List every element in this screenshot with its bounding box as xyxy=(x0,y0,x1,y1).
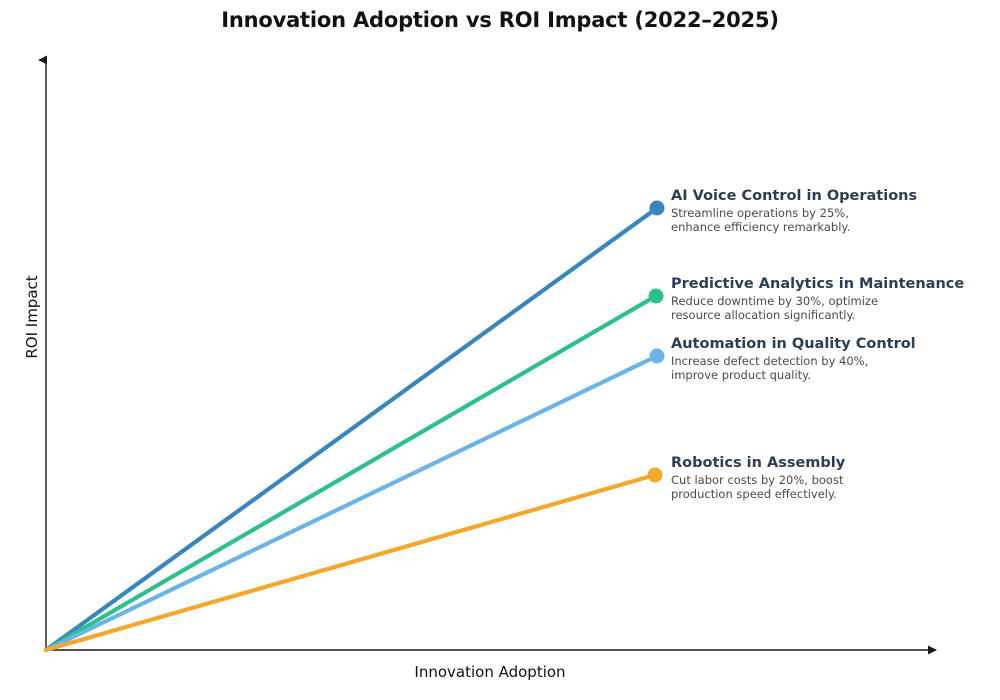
series-annotation-description: Streamline operations by 25%, enhance ef… xyxy=(671,206,1000,235)
series-annotation-0: AI Voice Control in Operations Streamlin… xyxy=(671,188,1000,235)
series-annotation-title: Robotics in Assembly xyxy=(671,455,1000,472)
series-annotation-2: Automation in Quality Control Increase d… xyxy=(671,336,1000,383)
series-annotation-title: Automation in Quality Control xyxy=(671,336,1000,353)
series-annotation-title: Predictive Analytics in Maintenance xyxy=(671,276,1000,293)
series-endpoint-markers-group xyxy=(648,201,665,483)
chart-canvas: Innovation Adoption vs ROI Impact (2022–… xyxy=(0,0,1000,700)
series-endpoint-marker-0[interactable] xyxy=(650,201,665,216)
series-annotation-description: Increase defect detection by 40%, improv… xyxy=(671,354,1000,383)
x-axis-label: Innovation Adoption xyxy=(0,663,980,681)
series-lines-group xyxy=(46,208,657,650)
series-endpoint-marker-1[interactable] xyxy=(649,289,664,304)
series-line-0 xyxy=(46,208,657,650)
series-annotation-title: AI Voice Control in Operations xyxy=(671,188,1000,205)
y-axis-label: ROI Impact xyxy=(23,257,41,377)
series-endpoint-marker-2[interactable] xyxy=(650,349,665,364)
series-line-2 xyxy=(46,356,657,650)
series-line-1 xyxy=(46,296,656,650)
series-annotation-description: Cut labor costs by 20%, boost production… xyxy=(671,473,1000,502)
series-annotation-description: Reduce downtime by 30%, optimize resourc… xyxy=(671,294,1000,323)
series-endpoint-marker-3[interactable] xyxy=(648,468,663,483)
series-annotation-3: Robotics in Assembly Cut labor costs by … xyxy=(671,455,1000,502)
series-annotation-1: Predictive Analytics in Maintenance Redu… xyxy=(671,276,1000,323)
